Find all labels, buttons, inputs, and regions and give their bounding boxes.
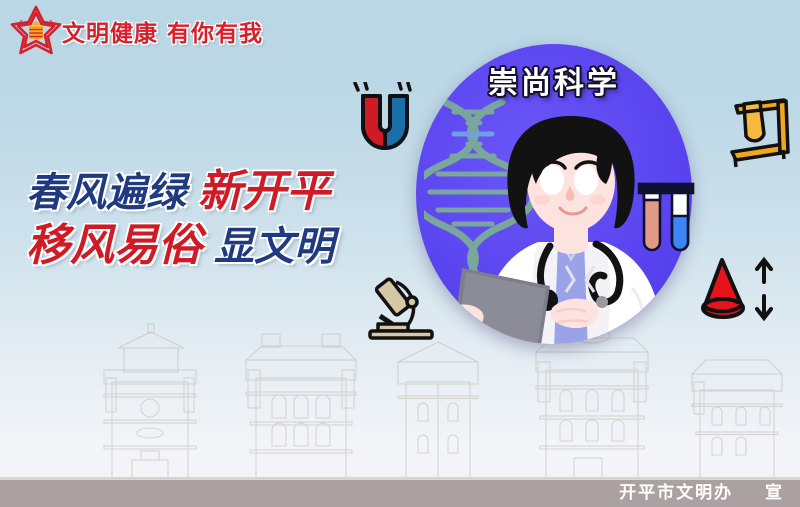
civilization-flower-logo-icon — [8, 4, 64, 58]
test-tube-rack-icon — [726, 90, 794, 170]
footer-credit: 开平市文明办 宣 — [619, 480, 784, 507]
microscope-icon — [366, 274, 442, 342]
footer-bar: 开平市文明办 宣 — [0, 480, 800, 507]
slogan-line-2: 移风易俗显文明 — [26, 222, 406, 270]
slogan-line2-part2: 显文明 — [214, 225, 334, 268]
slogan-line1-part2: 新开平 — [198, 168, 330, 216]
slogan-line1-part1: 春风遍绿 — [26, 171, 186, 214]
poster-canvas: 文明健康 有你有我 春风遍绿新开平 移风易俗显文明 — [0, 0, 800, 507]
footer-suffix: 宣 — [765, 483, 784, 503]
footer-org: 开平市文明办 — [619, 483, 733, 503]
science-illustration: 崇尚科学 — [408, 44, 700, 352]
cone-measure-icon — [696, 252, 778, 326]
header-slogan: 文明健康 有你有我 — [62, 14, 263, 48]
slogan-line-1: 春风遍绿新开平 — [26, 168, 406, 216]
slogan-line2-part1: 移风易俗 — [26, 222, 202, 270]
main-slogan: 春风遍绿新开平 移风易俗显文明 — [26, 168, 406, 269]
circle-title: 崇尚科学 — [408, 58, 700, 102]
female-doctor-illustration — [446, 96, 692, 344]
